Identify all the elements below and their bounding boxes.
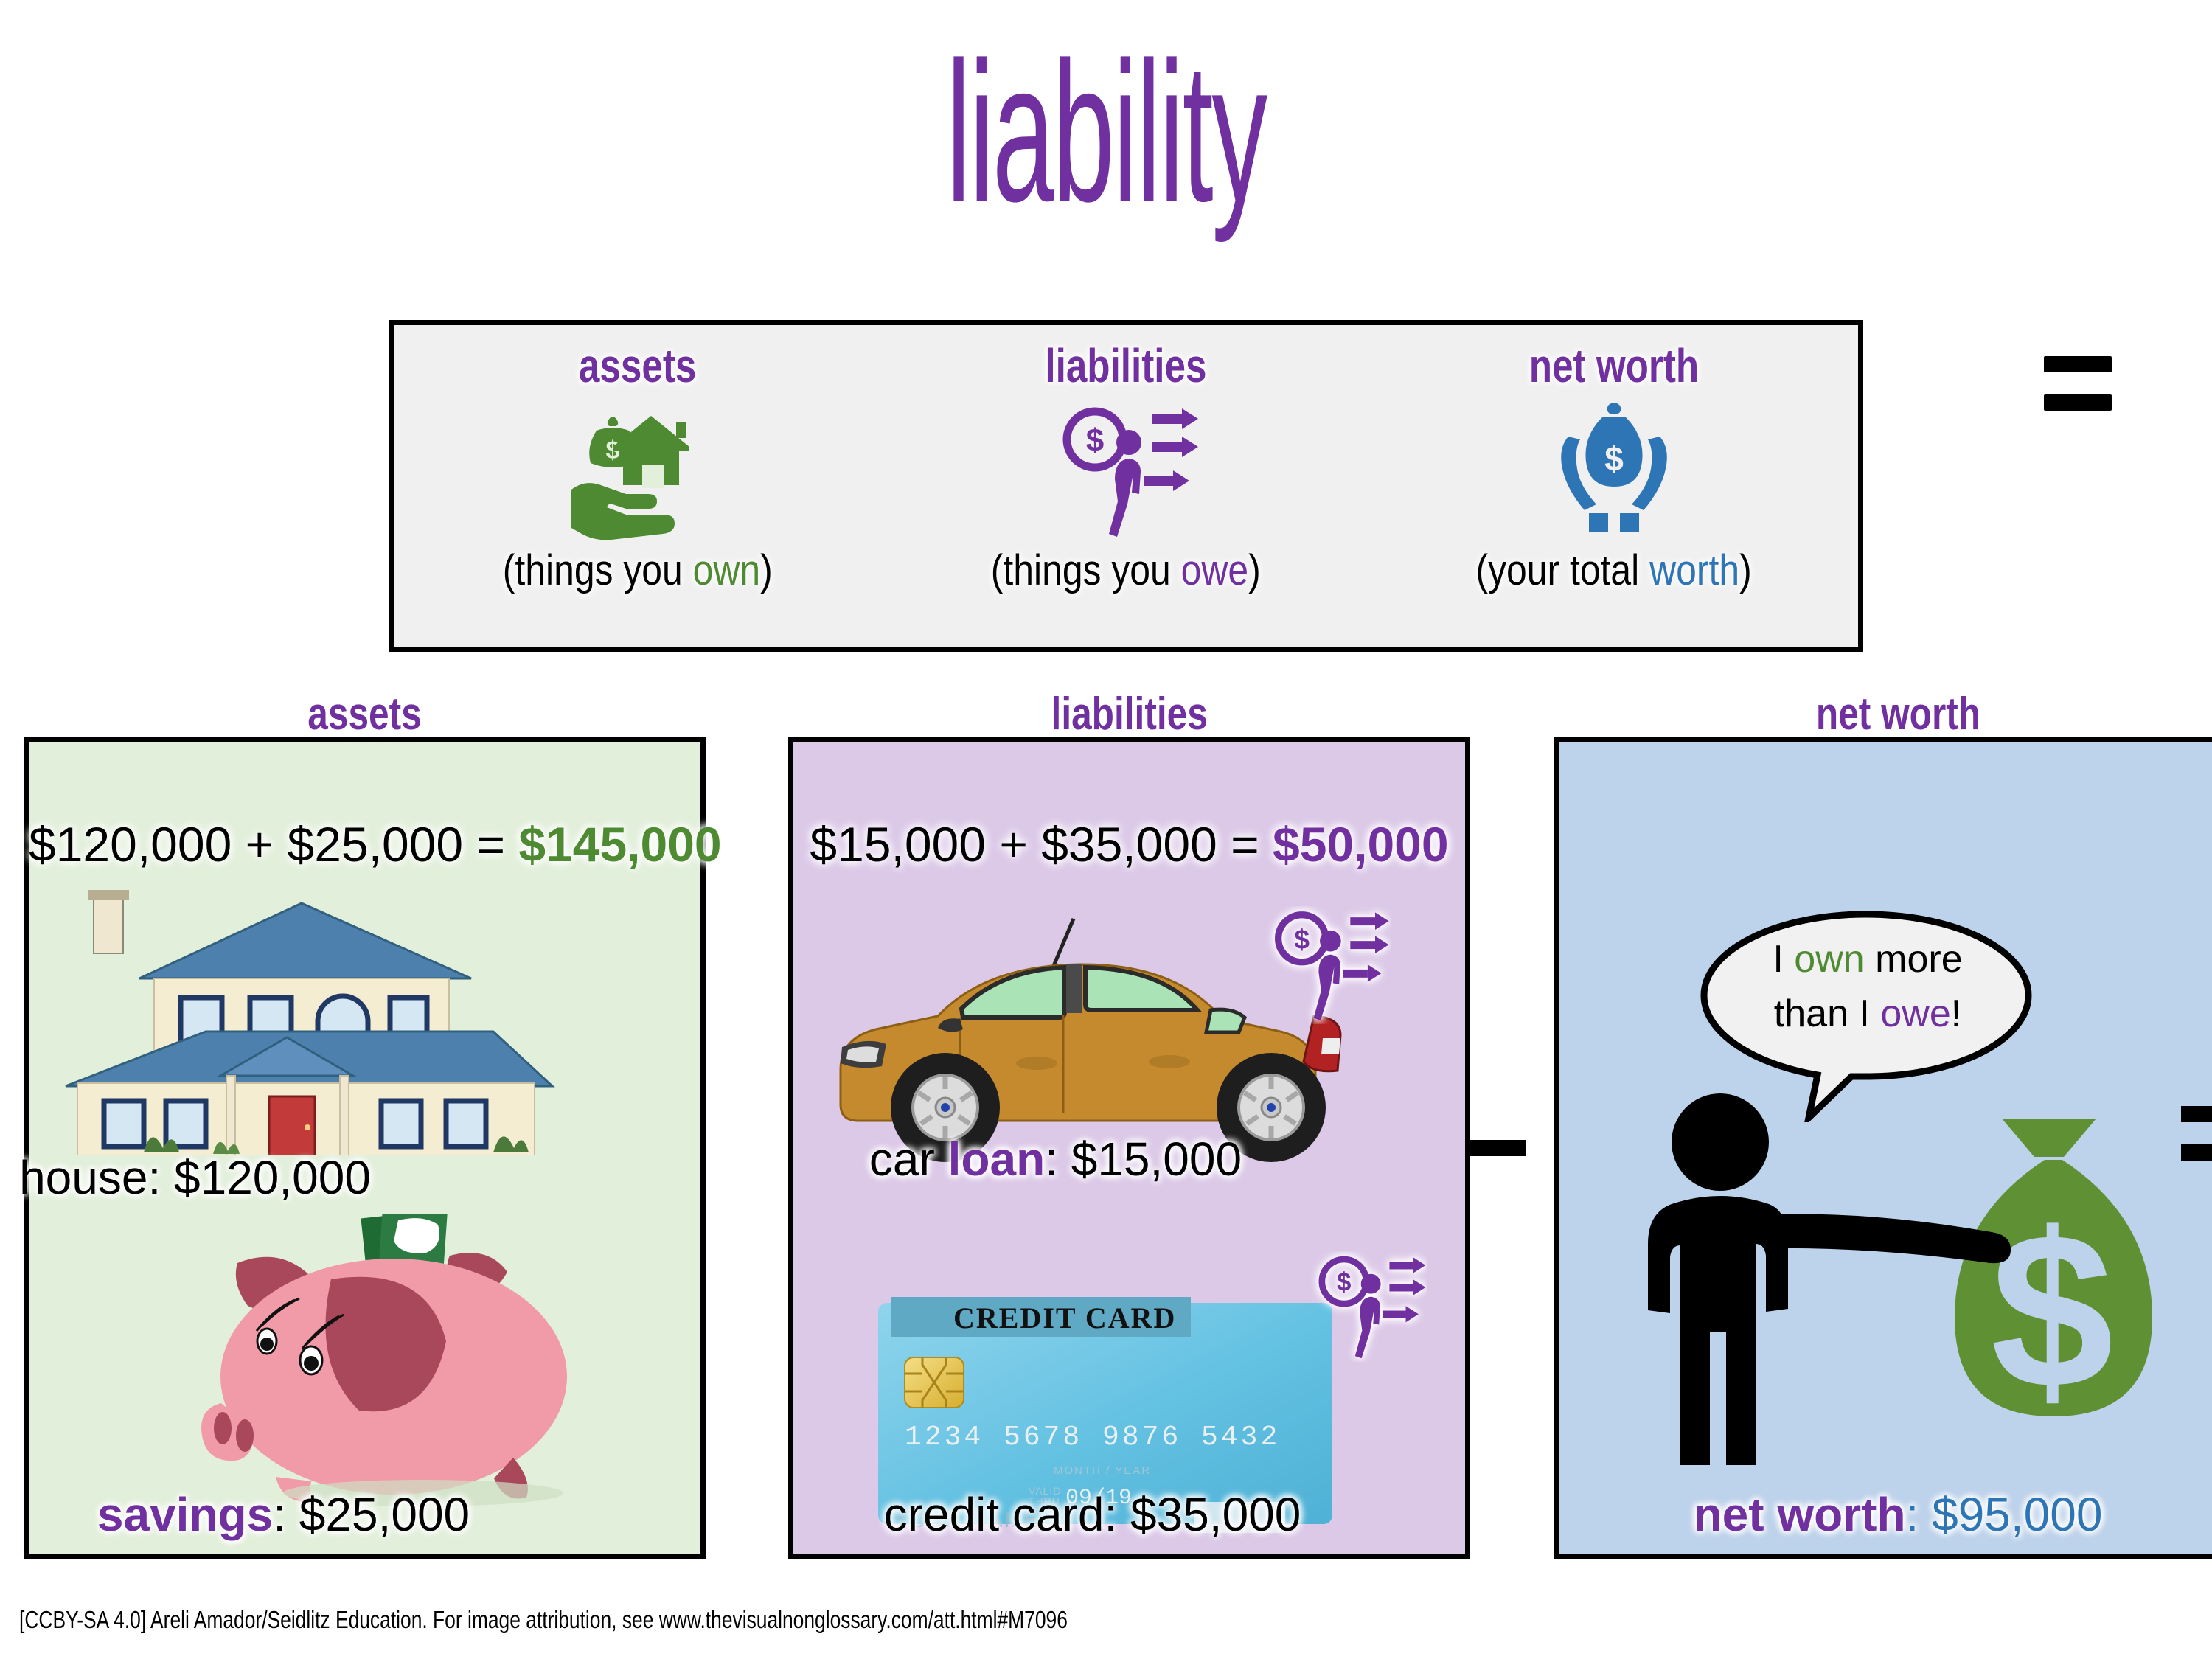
legend-column-net-worth: net worth $ (your total worth) — [1370, 325, 1858, 647]
car-loan-label-bold: loan — [948, 1133, 1046, 1186]
hand-holding-house-money-icon: $ — [564, 399, 712, 543]
assets-eq-total: $145,000 — [518, 817, 721, 872]
equals-sign-top: = — [2044, 356, 2112, 411]
assets-savings-label-bold: savings — [97, 1488, 273, 1541]
legend-sub-post: ) — [760, 546, 773, 594]
net-worth-label-bold: net worth — [1694, 1488, 1906, 1541]
speech-line1-post: more — [1865, 938, 1963, 981]
speech-line1-highlight: own — [1794, 938, 1864, 981]
assets-eq-term-a: $120,000 — [29, 817, 232, 872]
person-money-outflow-icon-card: $ — [1310, 1251, 1427, 1362]
svg-text:$: $ — [1337, 1269, 1351, 1297]
legend-column-liabilities: liabilities $ — [882, 325, 1370, 647]
liabilities-eq-total: $50,000 — [1273, 817, 1449, 872]
legend-sub-pre: (things you — [991, 546, 1181, 594]
speech-line-1: I own more — [1698, 932, 2037, 987]
panel-title-assets: assets — [29, 688, 700, 740]
person-with-money-bag-icon: $ — [1626, 1089, 2212, 1531]
legend-term-assets: assets — [579, 338, 696, 393]
credit-card-label-text: credit card: $35,000 — [884, 1488, 1301, 1541]
panel-title-liabilities: liabilities — [793, 688, 1465, 740]
legend-sub-post: ) — [1248, 546, 1261, 594]
panel-title-assets-text: assets — [299, 688, 430, 740]
legend-sub-pre: (your total — [1476, 546, 1650, 594]
speech-line1-pre: I — [1773, 938, 1794, 981]
assets-item-label-savings: savings: $25,000 — [0, 1487, 619, 1542]
liabilities-item-label-car-loan: car loan: $15,000 — [720, 1132, 1391, 1186]
piggy-bank-image — [180, 1214, 659, 1509]
credit-card-brand-text: CREDIT CARD — [953, 1301, 1176, 1335]
assets-eq-equals: = — [476, 817, 505, 872]
speech-line2-pre: than I — [1774, 992, 1881, 1035]
definition-legend-box: assets $ (things you own) — [389, 320, 1863, 652]
liabilities-eq-plus: + — [999, 817, 1028, 872]
legend-column-assets: assets $ (things you own) — [394, 325, 882, 647]
equals-bar-upper — [2181, 1106, 2212, 1122]
legend-sub-highlight: own — [693, 546, 761, 594]
svg-text:$: $ — [1294, 923, 1310, 954]
speech-bubble-text: I own more than I owe! — [1698, 932, 2037, 1041]
assets-house-label-text: house: $120,000 — [19, 1151, 371, 1204]
svg-text:$: $ — [1086, 422, 1104, 459]
legend-term-liabilities: liabilities — [1045, 338, 1206, 393]
legend-subtitle-assets: (things you own) — [503, 546, 773, 595]
liabilities-equation: $15,000 + $35,000 = $50,000 — [793, 816, 1465, 872]
car-loan-label-pre: car — [869, 1133, 948, 1186]
liabilities-eq-term-b: $35,000 — [1041, 817, 1217, 872]
legend-sub-post: ) — [1739, 546, 1752, 594]
panel-title-liabilities-text: liabilities — [1043, 688, 1216, 740]
equals-bar-lower — [2044, 394, 2112, 411]
hands-holding-money-bag-icon: $ — [1540, 399, 1688, 543]
assets-savings-label-value: : $25,000 — [273, 1488, 470, 1541]
speech-line-2: than I owe! — [1698, 987, 2037, 1041]
house-image — [36, 890, 700, 1155]
assets-eq-plus: + — [246, 817, 274, 872]
legend-subtitle-liabilities: (things you owe) — [991, 546, 1261, 595]
money-bag-dollar-glyph: $ — [1991, 1186, 2114, 1434]
credit-card-number-text: 1234 5678 9876 5432 — [905, 1422, 1280, 1453]
panel-title-net-worth: net worth — [1559, 688, 2212, 740]
net-worth-item-label: net worth: $95,000 — [1559, 1487, 2212, 1542]
liabilities-eq-term-a: $15,000 — [810, 817, 986, 872]
liabilities-eq-equals: = — [1231, 817, 1259, 872]
minus-operator: − — [1470, 1140, 1526, 1156]
equals-bar-lower — [2181, 1144, 2212, 1161]
net-worth-label-value: : $95,000 — [1906, 1488, 2103, 1541]
car-loan-label-post: : $15,000 — [1045, 1133, 1242, 1186]
panel-net-worth: net worth I own more than I owe! — [1554, 737, 2212, 1559]
infographic-canvas: liability assets $ (th — [0, 0, 2212, 1659]
liabilities-item-label-credit-card: credit card: $35,000 — [757, 1487, 1428, 1542]
assets-item-label-house: house: $120,000 — [0, 1150, 531, 1205]
person-money-outflow-icon-car: $ — [1265, 906, 1391, 1024]
equals-operator-right: = — [2181, 1106, 2212, 1161]
svg-text:$: $ — [1604, 439, 1624, 478]
panel-title-net-worth-text: net worth — [1807, 688, 1989, 740]
assets-equation: $120,000 + $25,000 = $145,000 — [29, 816, 700, 872]
panel-assets: assets $120,000 + $25,000 = $145,000 — [24, 737, 706, 1559]
legend-sub-pre: (things you — [503, 546, 693, 594]
attribution-footer: [CCBY-SA 4.0] Areli Amador/Seidlitz Educ… — [19, 1606, 1068, 1634]
panel-liabilities: liabilities $15,000 + $35,000 = $50,000 — [788, 737, 1470, 1559]
legend-term-net-worth: net worth — [1529, 338, 1699, 393]
assets-eq-term-b: $25,000 — [288, 817, 464, 872]
legend-subtitle-net-worth: (your total worth) — [1476, 546, 1752, 595]
speech-line2-highlight: owe — [1880, 992, 1950, 1035]
legend-sub-highlight: owe — [1181, 546, 1249, 594]
person-money-outflow-icon: $ — [1052, 399, 1200, 543]
credit-card-month-year-label: MONTH / YEAR — [1054, 1464, 1151, 1477]
speech-line2-post: ! — [1951, 992, 1961, 1035]
legend-sub-highlight: worth — [1650, 546, 1740, 594]
equals-bar-upper — [2044, 356, 2112, 372]
page-title: liability — [487, 22, 1725, 243]
